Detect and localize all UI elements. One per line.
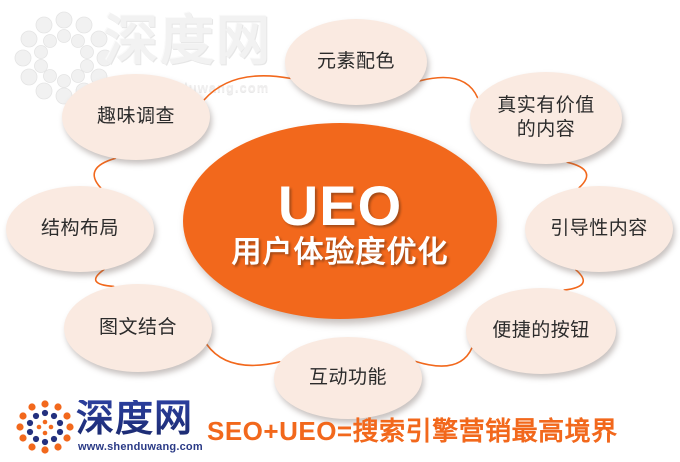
node-label: 便捷的按钮 (486, 319, 596, 343)
core-title: UEO (278, 177, 402, 234)
connector-tuwen-jiehe-to-jiegou-buju (96, 270, 114, 287)
node-label-line: 互动功能 (303, 366, 393, 390)
node-tuwen-jiehe[interactable]: 图文结合 (64, 284, 212, 372)
core-subtitle: 用户体验度优化 (232, 236, 449, 269)
node-label-line: 趣味调查 (91, 105, 181, 129)
node-zhenshi-jiazhi[interactable]: 真实有价值的内容 (470, 72, 622, 164)
connector-jiegou-buju-to-quwei-diaocha (94, 158, 115, 187)
node-label-line: 结构布局 (35, 217, 125, 241)
connector-bianjie-anniu-to-hudong-gongneng (416, 348, 472, 366)
connector-zhenshi-jiazhi-to-yindao-xing (567, 162, 587, 187)
ueo-diagram-canvas: 深度网 www.shenduwang.com 元素配色真实有价值的内容引导性内容… (0, 0, 680, 462)
connector-yindao-xing-to-bianjie-anniu (564, 270, 583, 290)
node-label: 引导性内容 (544, 217, 654, 241)
node-label-line: 真实有价值 (491, 94, 601, 118)
connector-hudong-gongneng-to-tuwen-jiehe (207, 344, 280, 365)
node-label: 趣味调查 (91, 105, 181, 129)
footer-url: www.shenduwang.com (78, 441, 203, 453)
node-bianjie-anniu[interactable]: 便捷的按钮 (466, 288, 616, 374)
node-label: 元素配色 (311, 50, 401, 74)
node-label: 真实有价值的内容 (491, 94, 601, 141)
node-hudong-gongneng[interactable]: 互动功能 (274, 337, 422, 419)
node-jiegou-buju[interactable]: 结构布局 (6, 186, 154, 272)
node-label-line: 的内容 (491, 118, 601, 142)
connector-quwei-diaocha-to-yuansu-peise (204, 76, 290, 100)
connector-yuansu-peise-to-zhenshi-jiazhi (420, 78, 478, 98)
node-label-line: 引导性内容 (544, 217, 654, 241)
node-yindao-xing[interactable]: 引导性内容 (525, 186, 673, 272)
core-ellipse: UEO 用户体验度优化 (183, 123, 497, 319)
footer-logo-icon (12, 398, 78, 454)
footer-brand: 深度网 (76, 400, 193, 438)
node-label: 结构布局 (35, 217, 125, 241)
node-label-line: 便捷的按钮 (486, 319, 596, 343)
node-label: 互动功能 (303, 366, 393, 390)
node-label: 图文结合 (93, 316, 183, 340)
node-yuansu-peise[interactable]: 元素配色 (285, 19, 427, 105)
footer-tagline: SEO+UEO=搜索引擎营销最高境界 (207, 411, 618, 448)
node-quwei-diaocha[interactable]: 趣味调查 (62, 74, 210, 160)
node-label-line: 元素配色 (311, 50, 401, 74)
node-label-line: 图文结合 (93, 316, 183, 340)
